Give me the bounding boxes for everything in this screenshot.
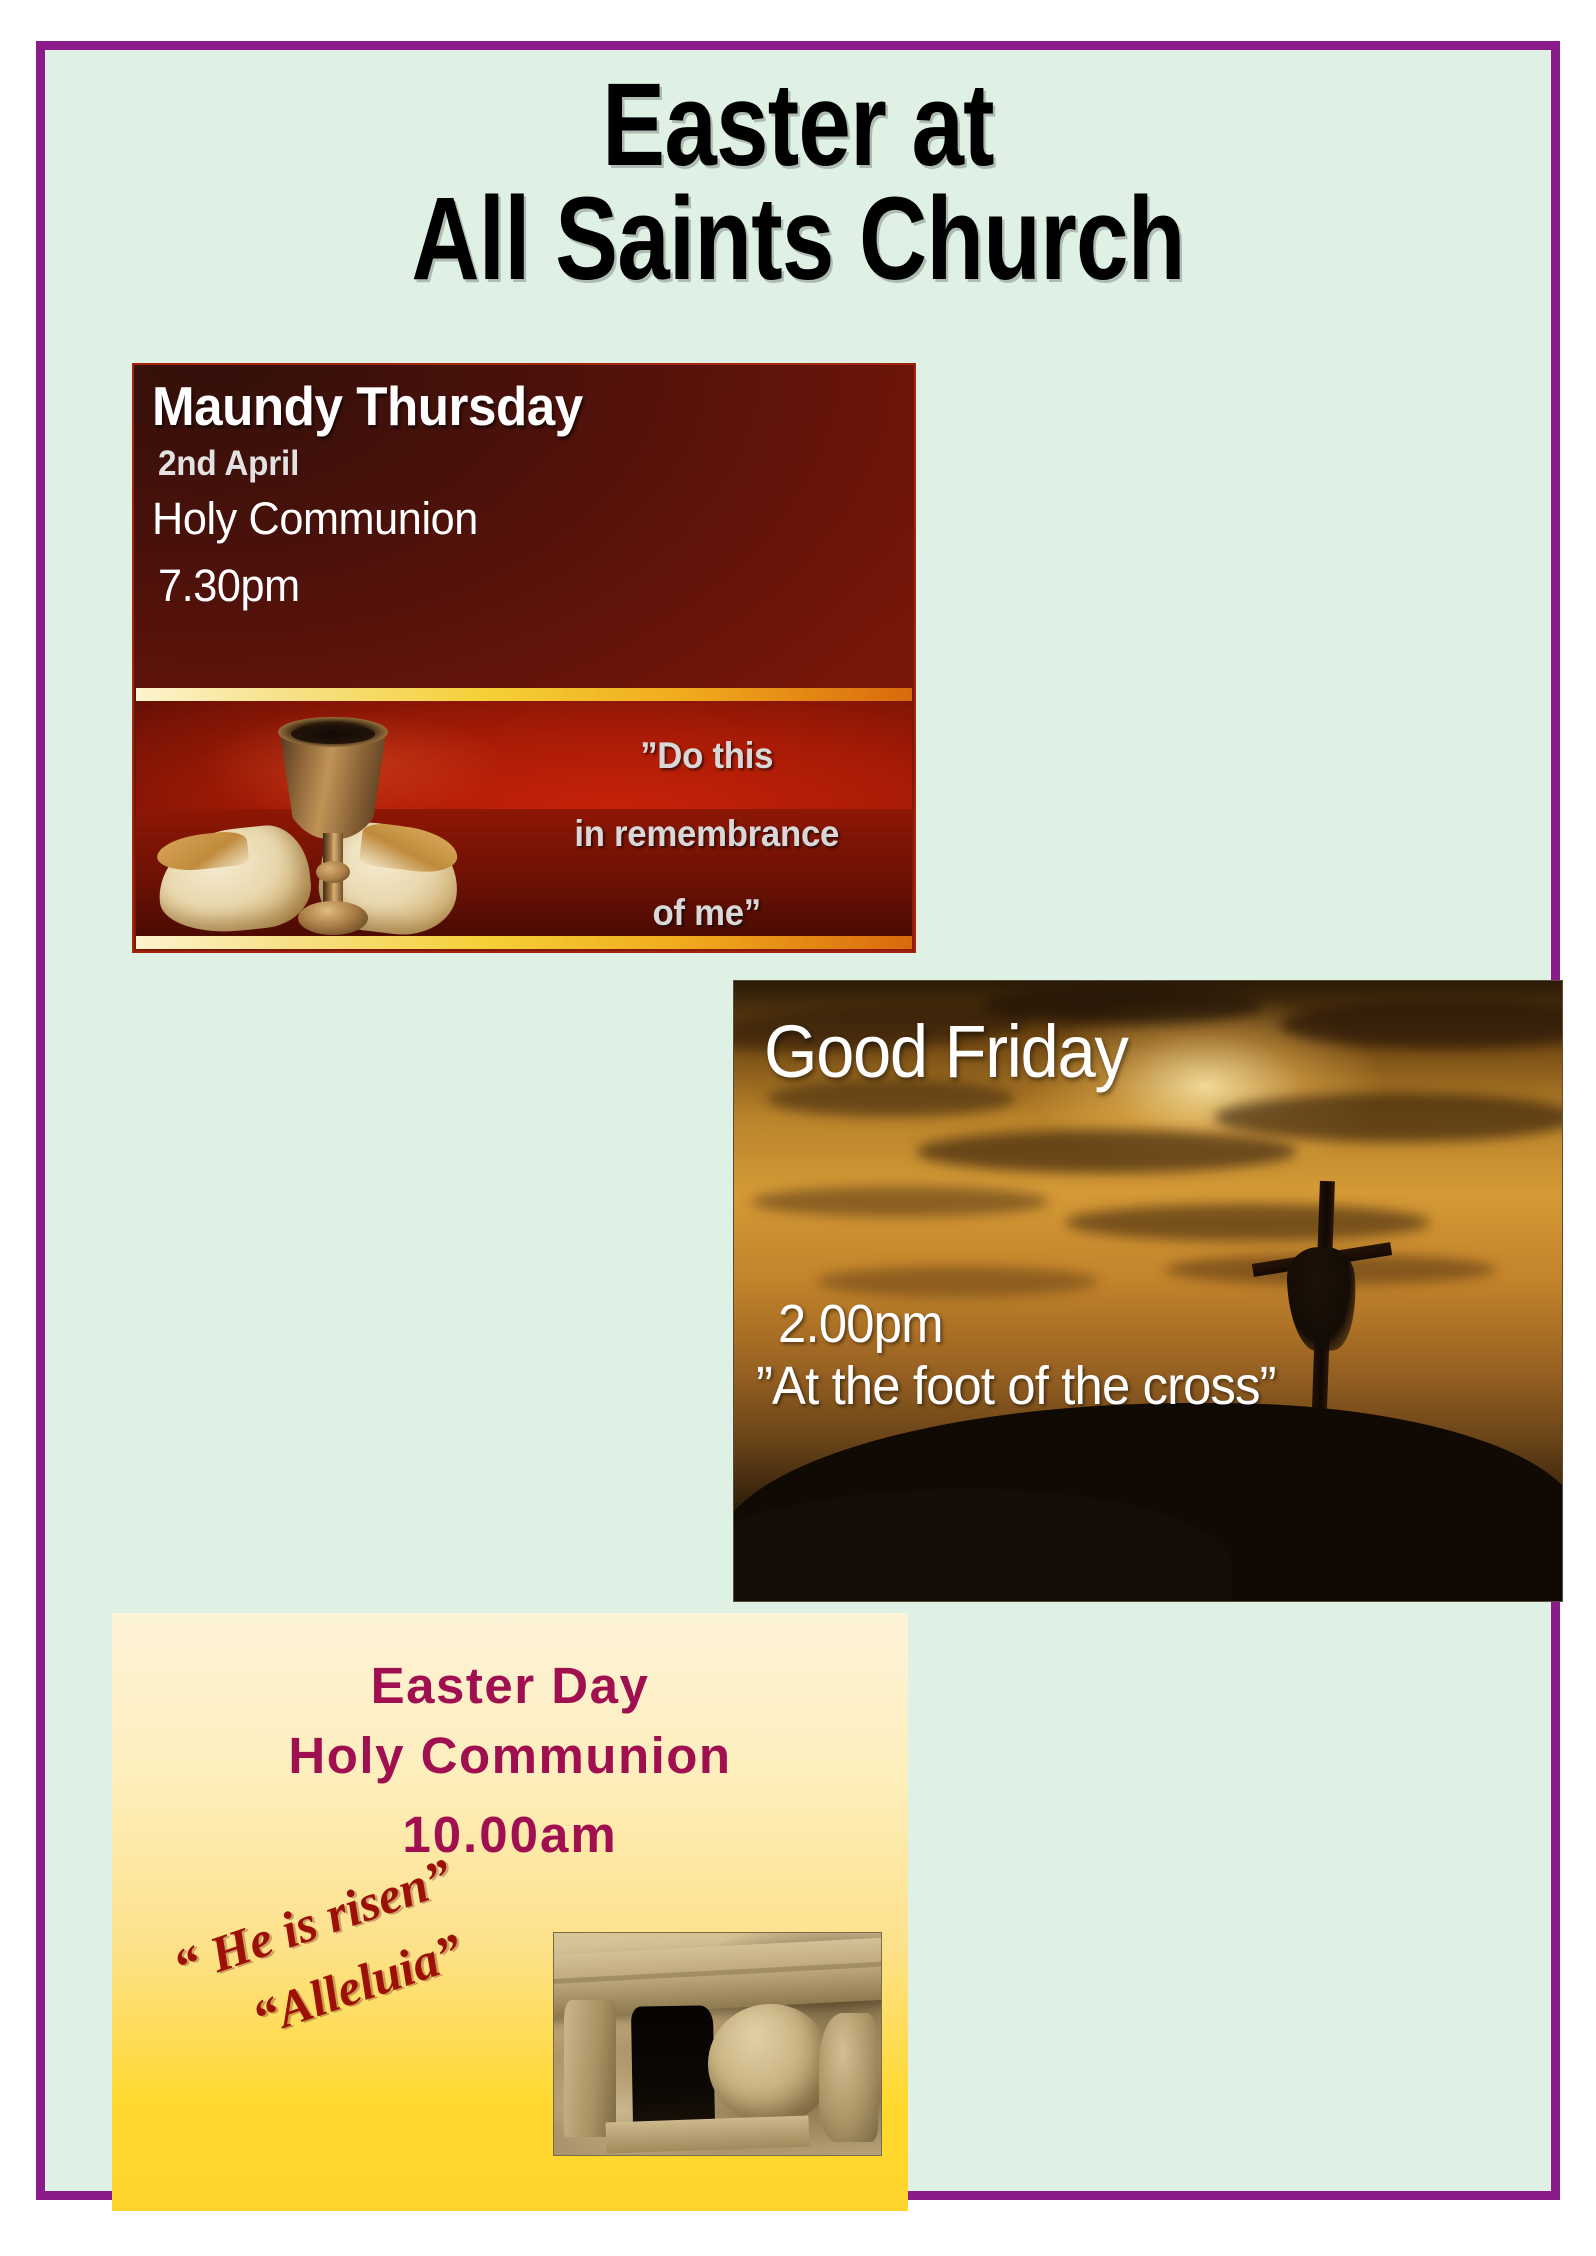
tomb-side-rock: [819, 2013, 878, 2142]
empty-tomb-image: [553, 1932, 882, 2156]
easter-day-service: Holy Communion: [112, 1721, 908, 1791]
maundy-thursday-text-group: Maundy Thursday 2nd April Holy Communion…: [132, 363, 916, 612]
cloud-shape: [751, 1186, 1049, 1217]
chalice-wine: [291, 724, 375, 744]
good-friday-time: 2.00pm: [778, 1293, 943, 1355]
maundy-thursday-panel: Maundy Thursday 2nd April Holy Communion…: [132, 363, 916, 953]
maundy-thursday-date: 2nd April: [158, 444, 878, 484]
maundy-thursday-heading: Maundy Thursday: [152, 377, 863, 436]
poster-frame: Easter at All Saints Church Maundy Thurs…: [36, 41, 1560, 2200]
easter-day-heading: Easter Day: [112, 1651, 908, 1721]
good-friday-heading: Good Friday: [764, 1009, 1127, 1094]
easter-poster: Easter at All Saints Church Maundy Thurs…: [0, 0, 1596, 2256]
maundy-thursday-time: 7.30pm: [158, 560, 886, 612]
chalice-icon: [274, 719, 392, 935]
chalice-foot: [298, 901, 368, 935]
communion-scene: ”Do this in remembrance of me”: [136, 701, 912, 936]
title-line-2: All Saints Church: [196, 182, 1401, 296]
gold-divider-bottom: [136, 936, 912, 949]
tomb-pillar: [564, 2000, 616, 2138]
good-friday-panel: Good Friday 2.00pm ”At the foot of the c…: [733, 980, 1563, 1602]
cloud-shape: [1214, 1093, 1563, 1143]
chalice-knop: [316, 861, 350, 883]
maundy-thursday-service: Holy Communion: [152, 493, 885, 545]
communion-quote: ”Do this in remembrance of me”: [523, 717, 890, 936]
good-friday-strapline: ”At the foot of the cross”: [756, 1355, 1276, 1417]
cloud-shape: [1065, 1204, 1429, 1241]
communion-image: ”Do this in remembrance of me”: [136, 688, 912, 949]
communion-quote-line-3: of me”: [523, 874, 890, 936]
crucified-figure: [1285, 1245, 1358, 1352]
page-title: Easter at All Saints Church: [196, 68, 1401, 297]
title-line-1: Easter at: [196, 68, 1401, 182]
easter-day-panel: Easter Day Holy Communion 10.00am “ He i…: [112, 1613, 908, 2211]
communion-quote-line-2: in remembrance: [523, 795, 890, 873]
communion-quote-line-1: ”Do this: [523, 717, 890, 795]
cloud-shape: [916, 1130, 1297, 1173]
tomb-entrance-opening: [631, 2006, 715, 2132]
rolled-away-stone: [708, 2004, 832, 2124]
gold-divider-top: [136, 688, 912, 701]
